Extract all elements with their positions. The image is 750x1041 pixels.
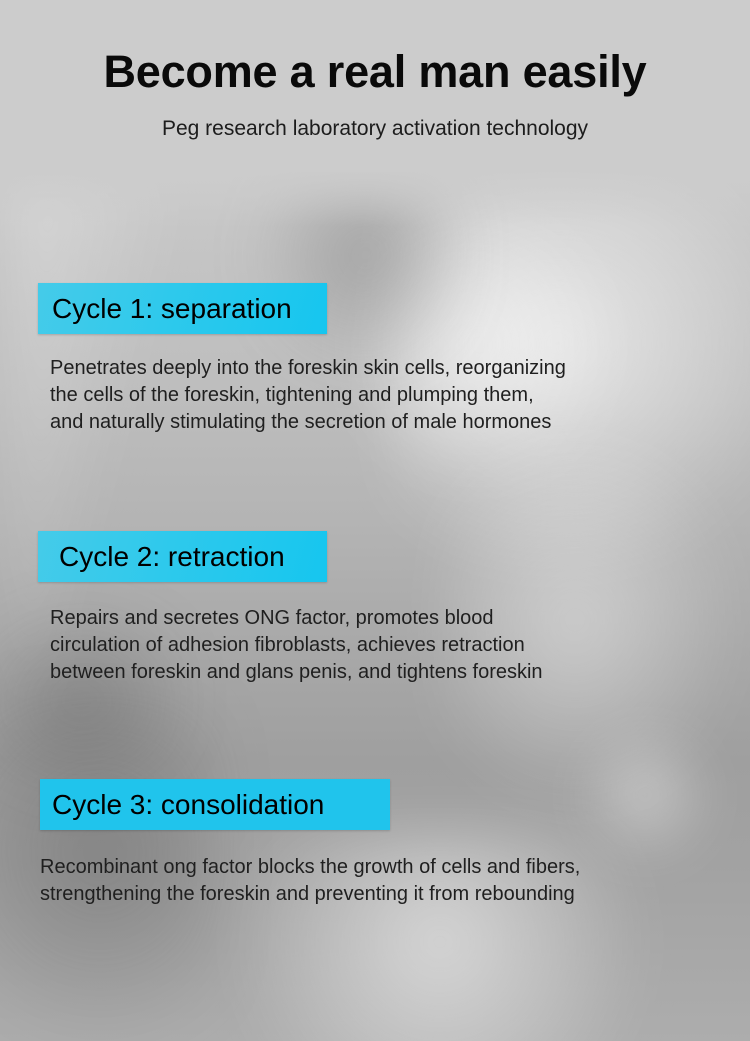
- cycle-2-description: Repairs and secretes ONG factor, promote…: [50, 605, 750, 686]
- cycle-1-description: Penetrates deeply into the foreskin skin…: [50, 355, 750, 436]
- header: Become a real man easily Peg research la…: [0, 0, 750, 141]
- header-backdrop-fade: [0, 166, 750, 226]
- cycle-1-badge: Cycle 1: separation: [38, 283, 327, 334]
- poster-root: Become a real man easily Peg research la…: [0, 0, 750, 1041]
- page-title: Become a real man easily: [0, 48, 750, 95]
- cycle-3-description: Recombinant ong factor blocks the growth…: [40, 854, 750, 908]
- cycle-section-2: Cycle 2: retraction Repairs and secretes…: [0, 531, 750, 686]
- cycle-2-badge: Cycle 2: retraction: [38, 531, 327, 582]
- page-subtitle: Peg research laboratory activation techn…: [0, 116, 750, 141]
- cycle-3-badge: Cycle 3: consolidation: [40, 779, 390, 830]
- cycle-section-3: Cycle 3: consolidation Recombinant ong f…: [0, 779, 750, 908]
- cycle-section-1: Cycle 1: separation Penetrates deeply in…: [0, 283, 750, 436]
